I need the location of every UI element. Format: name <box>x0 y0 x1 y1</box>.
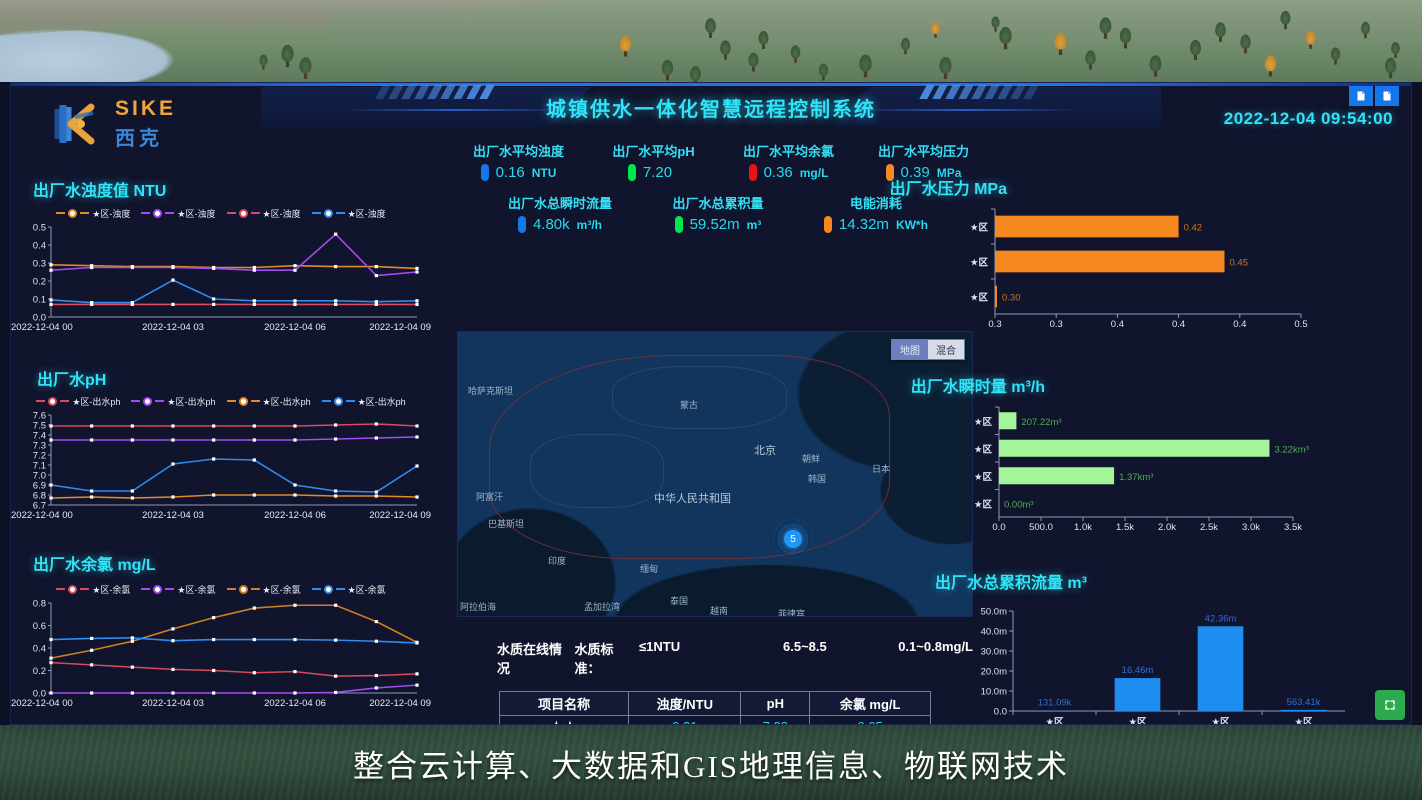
legend-item[interactable]: ★区-余氯 <box>56 583 130 596</box>
chart-plot-area: 6.76.86.97.07.17.27.37.47.57.6 <box>11 409 431 509</box>
chart-x-tick: 2.0k <box>1158 522 1176 533</box>
chart-x-tick: 2022-12-04 03 <box>142 510 204 521</box>
map-place-label: 缅甸 <box>640 562 658 575</box>
chart-x-tick: 0.3 <box>1050 319 1063 330</box>
chart-data-point <box>90 649 93 652</box>
map-type-map[interactable]: 地图 <box>892 340 928 359</box>
table-cell: 0.21 <box>629 716 741 726</box>
chart-bar-label: 42.36m <box>1205 613 1237 624</box>
chart-data-point <box>334 494 337 497</box>
water-quality-header: 水质在线情况 水质标准： ≤1NTU 6.5~8.5 0.1~0.8mg/L <box>457 639 973 677</box>
standard-ph: 6.5~8.5 <box>783 639 898 677</box>
svg-text:6.9: 6.9 <box>33 481 46 492</box>
chart-data-point <box>334 691 337 694</box>
chart-x-tick: 1.0k <box>1074 522 1092 533</box>
chart-data-point <box>293 438 296 441</box>
standard-turbidity: ≤1NTU <box>639 639 783 677</box>
chart-bar-label: 131.09k <box>1038 698 1072 709</box>
chart-data-point <box>293 269 296 272</box>
svg-text:50.0m: 50.0m <box>981 607 1007 618</box>
svg-text:10.0m: 10.0m <box>981 687 1007 698</box>
chart-data-point <box>212 457 215 460</box>
chart-title-total-flow: 出厂水总累积流量 m³ <box>935 569 1087 593</box>
svg-text:0.0: 0.0 <box>994 707 1007 718</box>
chart-data-point <box>212 669 215 672</box>
chart-bar <box>995 251 1225 273</box>
map-marker[interactable]: 5 <box>780 526 806 552</box>
chart-bar <box>995 216 1179 238</box>
chart-data-point <box>212 438 215 441</box>
chart-data-point <box>49 424 52 427</box>
chart-data-point <box>334 233 337 236</box>
chart-category-label: ★区 <box>970 293 989 304</box>
chart-total-flow: 0.010.0m20.0m30.0m40.0m50.0m131.09k★区16.… <box>959 595 1411 725</box>
chart-series-line <box>51 280 417 303</box>
kpi-label: 出厂水平均pH <box>586 141 721 160</box>
svg-text:7.2: 7.2 <box>33 451 46 462</box>
chart-pressure: 0.42★区0.45★区0.30★区0.30.30.40.40.40.5 <box>959 201 1411 341</box>
chart-data-point <box>253 493 256 496</box>
chart-x-axis: 2022-12-04 002022-12-04 032022-12-04 062… <box>11 322 431 336</box>
chart-data-point <box>334 303 337 306</box>
map-region-border <box>612 366 787 428</box>
chart-data-point <box>253 438 256 441</box>
chart-instant-flow: 207.22m³★区3.22km³★区1.37km³★区0.00m³★区0.05… <box>959 399 1411 544</box>
chart-x-tick: 1.5k <box>1116 522 1134 533</box>
chart-category-label: ★区 <box>1128 717 1147 725</box>
chart-bar <box>999 440 1269 457</box>
chart-data-point <box>49 269 52 272</box>
chart-plot-area: 0.00.20.40.60.8 <box>11 597 431 697</box>
map-place-label: 哈萨克斯坦 <box>468 384 513 397</box>
chart-data-point <box>131 640 134 643</box>
chart-bar <box>999 412 1016 429</box>
chart-series-line <box>51 459 417 492</box>
map-place-label: 日本 <box>872 462 890 475</box>
chart-data-point <box>90 424 93 427</box>
legend-item[interactable]: ★区-浊度 <box>56 207 130 220</box>
chart-x-tick: 2022-12-04 03 <box>142 698 204 709</box>
chart-data-point <box>90 266 93 269</box>
chart-data-point <box>90 637 93 640</box>
kpi-color-pill <box>675 216 683 233</box>
svg-text:7.3: 7.3 <box>33 441 46 452</box>
chart-x-tick: 2022-12-04 03 <box>142 322 204 333</box>
svg-text:6.8: 6.8 <box>33 491 46 502</box>
chart-data-point <box>212 267 215 270</box>
quality-section-title: 水质在线情况 <box>497 639 574 677</box>
table-header-row: 项目名称浊度/NTUpH余氯 mg/L <box>500 692 931 716</box>
chart-data-point <box>212 691 215 694</box>
chart-series-line <box>51 437 417 440</box>
chart-title-pressure: 出厂水压力 MPa <box>890 175 1007 199</box>
chart-bar-label: 563.41k <box>1287 697 1321 708</box>
chart-data-point <box>90 691 93 694</box>
chart-data-point <box>375 620 378 623</box>
chart-data-point <box>171 303 174 306</box>
kpi-unit: KW*h <box>896 218 928 232</box>
chart-data-point <box>90 489 93 492</box>
chart-category-label: ★区 <box>974 472 993 483</box>
logo-text: SIKE <box>115 97 176 121</box>
map-place-label: 韩国 <box>808 472 826 485</box>
pdf-export-icon[interactable] <box>1375 86 1399 106</box>
fullscreen-icon[interactable] <box>1375 690 1405 720</box>
svg-text:6.7: 6.7 <box>33 501 46 510</box>
map-place-label: 孟加拉湾 <box>584 600 620 613</box>
chart-data-point <box>415 641 418 644</box>
water-quality-table: 项目名称浊度/NTUpH余氯 mg/L ★★0.217.380.05★★0.07… <box>499 691 931 725</box>
far-hills <box>330 0 1422 40</box>
chart-data-point <box>171 639 174 642</box>
chart-data-point <box>253 299 256 302</box>
legend-item[interactable]: ★区-出水ph <box>322 395 406 408</box>
chart-data-point <box>49 303 52 306</box>
map-type-hybrid[interactable]: 混合 <box>928 340 964 359</box>
chart-x-tick: 0.4 <box>1172 319 1185 330</box>
chart-category-label: ★区 <box>1294 717 1313 725</box>
chart-x-tick: 2022-12-04 06 <box>264 698 326 709</box>
chart-data-point <box>212 297 215 300</box>
kpi-label: 出厂水平均浊度 <box>451 141 586 160</box>
chart-data-point <box>253 638 256 641</box>
legend-item[interactable]: ★区-浊度 <box>227 207 301 220</box>
svg-text:0.4: 0.4 <box>33 644 46 655</box>
chart-data-point <box>415 435 418 438</box>
chart-data-point <box>131 691 134 694</box>
chart-data-point <box>375 422 378 425</box>
chart-category-label: ★区 <box>970 258 989 269</box>
chart-data-point <box>171 627 174 630</box>
chart-data-point <box>293 670 296 673</box>
chart-data-point <box>171 495 174 498</box>
chart-data-point <box>49 638 52 641</box>
chart-series-line <box>51 234 417 275</box>
chart-category-label: ★区 <box>1211 717 1230 725</box>
chart-legend: ★区-余氯★区-余氯★区-余氯★区-余氯 <box>11 581 431 597</box>
chart-bar-label: 0.45 <box>1230 258 1249 269</box>
footer-caption: 整合云计算、大数据和GIS地理信息、物联网技术 <box>0 741 1422 786</box>
chart-data-point <box>131 636 134 639</box>
chart-data-point <box>293 303 296 306</box>
map-place-label: 朝鲜 <box>802 452 820 465</box>
chart-data-point <box>253 269 256 272</box>
chart-data-point <box>171 668 174 671</box>
chart-bar <box>995 286 997 308</box>
chart-ph: ★区-出水ph★区-出水ph★区-出水ph★区-出水ph6.76.86.97.0… <box>11 393 431 524</box>
chart-title-turbidity: 出厂水浊度值 NTU <box>33 177 166 201</box>
legend-item[interactable]: ★区-浊度 <box>312 207 386 220</box>
chart-turbidity: ★区-浊度★区-浊度★区-浊度★区-浊度0.00.10.20.30.40.520… <box>11 205 431 336</box>
svg-text:0.2: 0.2 <box>33 277 46 288</box>
chart-x-tick: 2022-12-04 09 <box>369 510 431 521</box>
chart-data-point <box>90 438 93 441</box>
chart-x-tick: 0.0 <box>992 522 1005 533</box>
chart-data-point <box>253 458 256 461</box>
chart-data-point <box>334 675 337 678</box>
legend-item[interactable]: ★区-余氯 <box>312 583 386 596</box>
chart-plot-area: 0.42★区0.45★区0.30★区0.30.30.40.40.40.5 <box>959 201 1359 336</box>
legend-item[interactable]: ★区-余氯 <box>227 583 301 596</box>
chart-x-tick: 0.5 <box>1294 319 1307 330</box>
scenery-backdrop <box>0 0 1422 82</box>
map-place-label: 泰国 <box>670 594 688 607</box>
chart-data-point <box>375 265 378 268</box>
legend-item[interactable]: ★区-浊度 <box>141 207 215 220</box>
table-body: ★★0.217.380.05★★0.076.770.37★★0.267.480.… <box>500 716 931 726</box>
chart-bar <box>1281 710 1327 711</box>
kpi-card: 出厂水平均浊度0.16NTU <box>451 141 586 181</box>
chart-bar <box>1032 711 1078 712</box>
chart-data-point <box>253 606 256 609</box>
table-column-header: pH <box>741 692 810 716</box>
chart-data-point <box>334 639 337 642</box>
chart-x-tick: 3.5k <box>1284 522 1302 533</box>
map-place-label: 北京 <box>754 442 776 458</box>
svg-text:30.0m: 30.0m <box>981 647 1007 658</box>
kpi-color-pill <box>628 164 636 181</box>
kpi-value: 0.36 <box>764 164 793 181</box>
chart-x-tick: 0.4 <box>1111 319 1124 330</box>
chart-data-point <box>293 493 296 496</box>
chart-data-point <box>90 301 93 304</box>
svg-text:0.6: 0.6 <box>33 621 46 632</box>
chart-data-point <box>415 495 418 498</box>
map-place-label: 越南 <box>710 604 728 617</box>
chart-data-point <box>415 684 418 687</box>
chart-x-tick: 2022-12-04 00 <box>11 510 73 521</box>
chart-x-tick: 2.5k <box>1200 522 1218 533</box>
chart-data-point <box>334 265 337 268</box>
chart-title-chlorine: 出厂水余氯 mg/L <box>33 551 156 575</box>
kpi-label: 出厂水平均余氯 <box>721 141 856 160</box>
chart-data-point <box>253 671 256 674</box>
chart-data-point <box>171 266 174 269</box>
kpi-color-pill <box>481 164 489 181</box>
chart-x-tick: 2022-12-04 06 <box>264 322 326 333</box>
chart-data-point <box>293 483 296 486</box>
svg-text:0.4: 0.4 <box>33 241 46 252</box>
chart-data-point <box>212 424 215 427</box>
chart-bar-label: 16.46m <box>1122 665 1154 676</box>
chart-data-point <box>90 663 93 666</box>
chart-data-point <box>334 489 337 492</box>
logo-subtext: 西克 <box>115 122 176 151</box>
map-place-label: 蒙古 <box>680 398 698 411</box>
chart-data-point <box>415 303 418 306</box>
chart-x-tick: 2022-12-04 00 <box>11 698 73 709</box>
table-column-header: 浊度/NTU <box>629 692 741 716</box>
svg-text:0.0: 0.0 <box>33 313 46 322</box>
kpi-color-pill <box>749 164 757 181</box>
chart-data-point <box>375 274 378 277</box>
chart-data-point <box>131 496 134 499</box>
chart-data-point <box>212 303 215 306</box>
chart-data-point <box>131 301 134 304</box>
chart-series-line <box>51 495 417 498</box>
kpi-card: 出厂水平均pH7.20 <box>586 141 721 181</box>
chart-category-label: ★区 <box>1045 717 1064 725</box>
header-stripes-right <box>923 85 1043 99</box>
chart-data-point <box>293 638 296 641</box>
table-cell: 7.38 <box>741 716 810 726</box>
chart-data-point <box>49 691 52 694</box>
chart-data-point <box>49 438 52 441</box>
chart-data-point <box>171 691 174 694</box>
map-place-label: 菲律宾 <box>778 607 805 617</box>
chart-category-label: ★区 <box>974 499 993 510</box>
quality-standard-label: 水质标准： <box>574 639 639 677</box>
chart-data-point <box>415 464 418 467</box>
chart-data-point <box>212 493 215 496</box>
chart-data-point <box>293 691 296 694</box>
map-place-label: 印度 <box>548 554 566 567</box>
chart-data-point <box>293 604 296 607</box>
chart-data-point <box>375 494 378 497</box>
kpi-value: 14.32m <box>839 216 889 233</box>
chart-data-point <box>334 423 337 426</box>
chart-data-point <box>415 672 418 675</box>
gis-map[interactable]: 哈萨克斯坦蒙古北京朝鲜韩国日本阿富汗中华人民共和国巴基斯坦印度缅甸泰国越南阿拉伯… <box>457 331 973 617</box>
svg-text:7.6: 7.6 <box>33 411 46 422</box>
chart-data-point <box>90 495 93 498</box>
svg-text:7.0: 7.0 <box>33 471 46 482</box>
marker-label: 5 <box>784 530 802 548</box>
legend-item[interactable]: ★区-余氯 <box>141 583 215 596</box>
chart-data-point <box>415 267 418 270</box>
water-quality-block: 水质在线情况 水质标准： ≤1NTU 6.5~8.5 0.1~0.8mg/L 项… <box>457 639 973 725</box>
chart-data-point <box>415 299 418 302</box>
kpi-value: 7.20 <box>643 164 672 181</box>
chart-x-tick: 2022-12-04 06 <box>264 510 326 521</box>
map-place-label: 巴基斯坦 <box>488 517 524 530</box>
chart-data-point <box>293 424 296 427</box>
chart-data-point <box>131 666 134 669</box>
dashboard-panel: 城镇供水一体化智慧远程控制系统 2022-12-04 09:54:00 <box>10 82 1412 725</box>
chart-x-tick: 0.4 <box>1233 319 1246 330</box>
svg-text:0.1: 0.1 <box>33 295 46 306</box>
chart-category-label: ★区 <box>974 417 993 428</box>
image-export-icon[interactable] <box>1349 86 1373 106</box>
chart-bar-label: 0.00m³ <box>1004 499 1034 510</box>
brand-logo: SIKE 西克 <box>51 97 176 151</box>
chart-data-point <box>212 616 215 619</box>
svg-text:7.4: 7.4 <box>33 431 46 442</box>
chart-plot-area: 0.010.0m20.0m30.0m40.0m50.0m131.09k★区16.… <box>959 595 1359 725</box>
chart-bar-label: 207.22m³ <box>1021 417 1061 428</box>
chart-data-point <box>49 298 52 301</box>
map-type-toggle[interactable]: 地图 混合 <box>891 339 965 360</box>
kpi-unit: mg/L <box>800 166 829 180</box>
chart-x-tick: 0.3 <box>988 319 1001 330</box>
chart-data-point <box>171 279 174 282</box>
header-stripes-left <box>379 85 499 99</box>
chart-category-label: ★区 <box>974 444 993 455</box>
chart-bar <box>1115 678 1161 711</box>
kpi-unit: m³ <box>747 218 762 232</box>
chart-data-point <box>334 604 337 607</box>
chart-x-tick: 3.0k <box>1242 522 1260 533</box>
chart-data-point <box>334 437 337 440</box>
chart-data-point <box>49 483 52 486</box>
chart-bar <box>999 467 1114 484</box>
chart-series-line <box>51 685 417 693</box>
chart-bar <box>1198 626 1244 711</box>
chart-series-line <box>51 424 417 426</box>
chart-data-point <box>49 263 52 266</box>
chart-data-point <box>375 436 378 439</box>
datetime-display: 2022-12-04 09:54:00 <box>1224 109 1393 129</box>
header-actions <box>1349 86 1399 106</box>
chart-data-point <box>253 424 256 427</box>
svg-text:0.8: 0.8 <box>33 599 46 610</box>
table-cell: 0.05 <box>810 716 931 726</box>
chart-data-point <box>212 638 215 641</box>
chart-legend: ★区-出水ph★区-出水ph★区-出水ph★区-出水ph <box>11 393 431 409</box>
sike-mark-icon <box>51 99 105 149</box>
kpi-label: 出厂水平均压力 <box>856 141 991 160</box>
table-column-header: 项目名称 <box>500 692 629 716</box>
chart-data-point <box>171 462 174 465</box>
chart-x-axis: 2022-12-04 002022-12-04 032022-12-04 062… <box>11 698 431 712</box>
svg-text:0.3: 0.3 <box>33 259 46 270</box>
chart-bar-label: 0.30 <box>1002 293 1021 304</box>
chart-x-tick: 2022-12-04 00 <box>11 322 73 333</box>
table-row[interactable]: ★★0.217.380.05 <box>500 716 931 726</box>
legend-item[interactable]: ★区-出水ph <box>227 395 311 408</box>
chart-x-tick: 2022-12-04 09 <box>369 698 431 709</box>
chart-data-point <box>171 438 174 441</box>
chart-plot-area: 0.00.10.20.30.40.5 <box>11 221 431 321</box>
map-place-label: 阿富汗 <box>476 490 503 503</box>
chart-data-point <box>375 640 378 643</box>
chart-data-point <box>375 686 378 689</box>
chart-x-axis: 2022-12-04 002022-12-04 032022-12-04 062… <box>11 510 431 524</box>
kpi-card: 电能消耗14.32mKW*h <box>797 193 955 233</box>
kpi-value: 0.16 <box>496 164 525 181</box>
header-divider-left <box>341 109 571 111</box>
svg-text:0.5: 0.5 <box>33 223 46 234</box>
map-place-label: 中华人民共和国 <box>654 490 731 506</box>
chart-series-line <box>51 638 417 643</box>
kpi-card: 出厂水总瞬时流量4.80km³/h <box>481 193 639 233</box>
chart-title-ph: 出厂水pH <box>37 366 106 390</box>
kpi-color-pill <box>518 216 526 233</box>
chart-bar-label: 3.22km³ <box>1274 444 1308 455</box>
chart-data-point <box>253 691 256 694</box>
chart-data-point <box>171 424 174 427</box>
chart-bar-label: 1.37km³ <box>1119 472 1153 483</box>
chart-series-line <box>51 605 417 658</box>
svg-text:20.0m: 20.0m <box>981 667 1007 678</box>
chart-legend: ★区-浊度★区-浊度★区-浊度★区-浊度 <box>11 205 431 221</box>
kpi-unit: m³/h <box>577 218 602 232</box>
svg-text:7.1: 7.1 <box>33 461 46 472</box>
dashboard-header: 城镇供水一体化智慧远程控制系统 2022-12-04 09:54:00 <box>11 83 1411 135</box>
chart-data-point <box>375 674 378 677</box>
legend-item[interactable]: ★区-出水ph <box>36 395 120 408</box>
chart-plot-area: 207.22m³★区3.22km³★区1.37km³★区0.00m³★区0.05… <box>959 399 1359 539</box>
chart-data-point <box>49 661 52 664</box>
chart-series-line <box>51 663 417 677</box>
kpi-label: 出厂水总累积量 <box>639 193 797 212</box>
chart-bar-label: 0.42 <box>1184 223 1203 234</box>
chart-data-point <box>131 438 134 441</box>
svg-text:40.0m: 40.0m <box>981 627 1007 638</box>
chart-data-point <box>375 300 378 303</box>
svg-text:7.5: 7.5 <box>33 421 46 432</box>
legend-item[interactable]: ★区-出水ph <box>131 395 215 408</box>
